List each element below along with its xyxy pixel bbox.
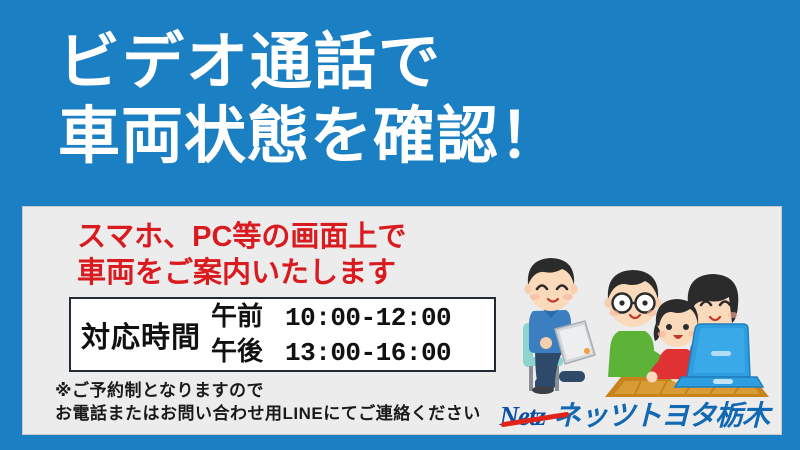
hours-row: 午前 10:00-12:00	[211, 300, 494, 335]
hours-period-afternoon: 午後	[211, 335, 285, 368]
hours-row: 午後 13:00-16:00	[211, 335, 494, 370]
business-hours-box: 対応時間 午前 10:00-12:00 午後 13:00-16:00	[69, 297, 496, 372]
netz-toyota-tochigi-logo: Netz ネッツトヨタ栃木	[499, 401, 769, 431]
hours-period-morning: 午前	[211, 300, 285, 333]
hours-rows: 午前 10:00-12:00 午後 13:00-16:00	[211, 300, 494, 370]
hours-time-morning: 10:00-12:00	[285, 302, 451, 335]
reservation-notice-line-1: ※ご予約制となりますので	[55, 379, 481, 402]
netz-wordmark: Netz	[499, 401, 547, 431]
headline-line-2: 車両状態を確認！	[58, 100, 758, 174]
people-illustration	[521, 245, 782, 405]
content-panel: スマホ、PC等の画面上で 車両をご案内いたします 対応時間 午前 10:00-1…	[22, 206, 782, 435]
hours-time-afternoon: 13:00-16:00	[285, 337, 451, 370]
subheadline-line-2: 車両をご案内いたします	[77, 255, 406, 291]
dealer-name: ネッツトヨタ栃木	[553, 401, 769, 431]
headline-line-1: ビデオ通話で	[58, 26, 758, 100]
reservation-notice-line-2: お電話またはお問い合わせ用LINEにてご連絡ください	[55, 402, 481, 425]
video-call-promo-banner: ビデオ通話で 車両状態を確認！ スマホ、PC等の画面上で 車両をご案内いたします…	[0, 0, 800, 450]
hours-label: 対応時間	[71, 314, 211, 356]
subheadline-line-1: スマホ、PC等の画面上で	[77, 219, 406, 255]
subheadline: スマホ、PC等の画面上で 車両をご案内いたします	[77, 219, 406, 291]
sales-staff-figure	[523, 258, 595, 394]
reservation-notice: ※ご予約制となりますので お電話またはお問い合わせ用LINEにてご連絡ください	[55, 379, 481, 425]
headline: ビデオ通話で 車両状態を確認！	[58, 26, 758, 174]
